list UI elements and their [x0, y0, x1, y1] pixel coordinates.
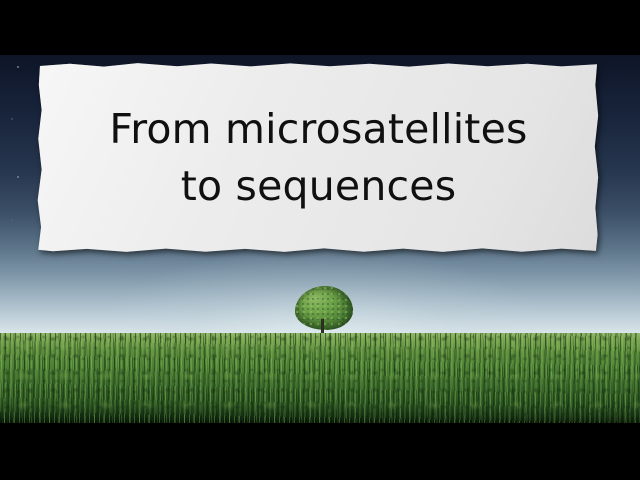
title-card: From microsatellites to sequences: [36, 62, 601, 254]
tree-canopy-icon: [295, 286, 353, 330]
grass-field: [0, 333, 640, 423]
title-line-2: to sequences: [181, 158, 457, 215]
title-line-1: From microsatellites: [109, 101, 527, 158]
video-slide: From microsatellites to sequences: [0, 0, 640, 480]
title-text-block: From microsatellites to sequences: [36, 62, 601, 254]
lone-tree: [293, 286, 355, 336]
letterbox-bar-bottom: [0, 423, 640, 480]
tree-trunk-icon: [321, 319, 324, 334]
letterbox-bar-top: [0, 0, 640, 55]
